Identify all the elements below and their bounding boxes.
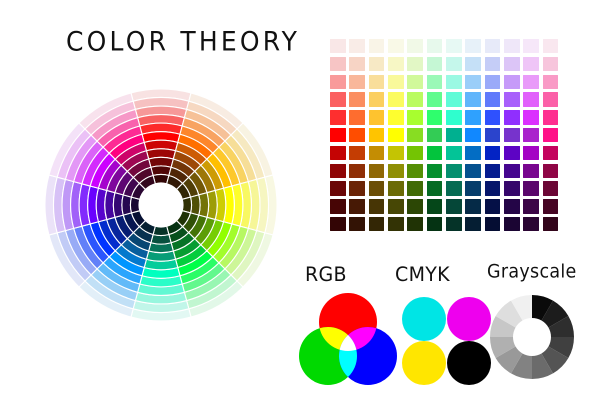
swatch-blue-4 bbox=[485, 110, 501, 124]
cmyk-label: CMYK bbox=[395, 263, 450, 286]
swatch-grid bbox=[330, 39, 562, 235]
page-title: COLOR THEORY bbox=[66, 26, 300, 57]
swatch-teal-9 bbox=[446, 199, 462, 213]
swatch-yellow-10 bbox=[388, 217, 404, 231]
swatch-chartreuse-9 bbox=[407, 199, 423, 213]
swatch-chartreuse-6 bbox=[407, 146, 423, 160]
swatch-teal-6 bbox=[446, 146, 462, 160]
swatch-teal-2 bbox=[446, 75, 462, 89]
swatch-magenta-5 bbox=[543, 128, 559, 142]
swatch-amber-9 bbox=[369, 199, 385, 213]
swatch-amber-5 bbox=[369, 128, 385, 142]
swatch-amber-10 bbox=[369, 217, 385, 231]
swatch-yellow-0 bbox=[388, 39, 404, 53]
swatch-azure-1 bbox=[465, 57, 481, 71]
swatch-azure-7 bbox=[465, 164, 481, 178]
swatch-azure-5 bbox=[465, 128, 481, 142]
swatch-violet-1 bbox=[504, 57, 520, 71]
swatch-teal-4 bbox=[446, 110, 462, 124]
cmyk-circles-svg bbox=[399, 292, 491, 388]
swatch-orange-0 bbox=[349, 39, 365, 53]
swatch-orange-3 bbox=[349, 92, 365, 106]
swatch-magenta-9 bbox=[543, 199, 559, 213]
swatch-green-10 bbox=[427, 217, 443, 231]
swatch-purple-8 bbox=[523, 181, 539, 195]
swatch-yellow-9 bbox=[388, 199, 404, 213]
swatch-orange-9 bbox=[349, 199, 365, 213]
swatch-green-8 bbox=[427, 181, 443, 195]
swatch-red-0 bbox=[330, 39, 346, 53]
swatch-red-6 bbox=[330, 146, 346, 160]
swatch-magenta-0 bbox=[543, 39, 559, 53]
swatch-magenta-1 bbox=[543, 57, 559, 71]
swatch-orange-6 bbox=[349, 146, 365, 160]
swatch-blue-9 bbox=[485, 199, 501, 213]
swatch-purple-3 bbox=[523, 92, 539, 106]
cmyk-circles-diagram bbox=[399, 292, 491, 388]
swatch-purple-2 bbox=[523, 75, 539, 89]
swatch-violet-9 bbox=[504, 199, 520, 213]
swatch-amber-7 bbox=[369, 164, 385, 178]
swatch-magenta-8 bbox=[543, 181, 559, 195]
swatch-yellow-3 bbox=[388, 92, 404, 106]
swatch-chartreuse-8 bbox=[407, 181, 423, 195]
swatch-magenta-10 bbox=[543, 217, 559, 231]
cmyk-circle-yellow bbox=[402, 341, 446, 385]
swatch-azure-0 bbox=[465, 39, 481, 53]
wheel-center-hole bbox=[139, 183, 183, 227]
swatch-violet-4 bbox=[504, 110, 520, 124]
swatch-purple-1 bbox=[523, 57, 539, 71]
swatch-chartreuse-4 bbox=[407, 110, 423, 124]
swatch-green-1 bbox=[427, 57, 443, 71]
swatch-purple-4 bbox=[523, 110, 539, 124]
swatch-red-9 bbox=[330, 199, 346, 213]
swatch-amber-2 bbox=[369, 75, 385, 89]
swatch-red-10 bbox=[330, 217, 346, 231]
swatch-blue-5 bbox=[485, 128, 501, 142]
swatch-amber-6 bbox=[369, 146, 385, 160]
swatch-green-9 bbox=[427, 199, 443, 213]
swatch-yellow-6 bbox=[388, 146, 404, 160]
cmyk-circle-key bbox=[447, 341, 491, 385]
swatch-chartreuse-0 bbox=[407, 39, 423, 53]
grayscale-wheel bbox=[487, 292, 579, 384]
swatch-green-6 bbox=[427, 146, 443, 160]
swatch-teal-5 bbox=[446, 128, 462, 142]
swatch-purple-0 bbox=[523, 39, 539, 53]
rgb-venn-diagram bbox=[296, 292, 400, 388]
swatch-red-3 bbox=[330, 92, 346, 106]
swatch-violet-7 bbox=[504, 164, 520, 178]
swatch-magenta-6 bbox=[543, 146, 559, 160]
swatch-chartreuse-1 bbox=[407, 57, 423, 71]
swatch-chartreuse-2 bbox=[407, 75, 423, 89]
swatch-teal-10 bbox=[446, 217, 462, 231]
swatch-violet-0 bbox=[504, 39, 520, 53]
swatch-violet-5 bbox=[504, 128, 520, 142]
swatch-violet-10 bbox=[504, 217, 520, 231]
rgb-venn-svg bbox=[296, 292, 400, 388]
swatch-violet-8 bbox=[504, 181, 520, 195]
swatch-orange-8 bbox=[349, 181, 365, 195]
grayscale-label: Grayscale bbox=[487, 262, 577, 283]
swatch-red-2 bbox=[330, 75, 346, 89]
swatch-teal-7 bbox=[446, 164, 462, 178]
swatch-blue-2 bbox=[485, 75, 501, 89]
swatch-red-7 bbox=[330, 164, 346, 178]
swatch-green-0 bbox=[427, 39, 443, 53]
swatch-teal-0 bbox=[446, 39, 462, 53]
swatch-azure-4 bbox=[465, 110, 481, 124]
swatch-azure-8 bbox=[465, 181, 481, 195]
swatch-azure-10 bbox=[465, 217, 481, 231]
swatch-orange-10 bbox=[349, 217, 365, 231]
swatch-purple-5 bbox=[523, 128, 539, 142]
swatch-orange-7 bbox=[349, 164, 365, 178]
swatch-violet-3 bbox=[504, 92, 520, 106]
swatch-green-3 bbox=[427, 92, 443, 106]
swatch-azure-2 bbox=[465, 75, 481, 89]
swatch-green-2 bbox=[427, 75, 443, 89]
cmyk-circle-magenta bbox=[447, 297, 491, 341]
swatch-blue-6 bbox=[485, 146, 501, 160]
swatch-yellow-4 bbox=[388, 110, 404, 124]
swatch-amber-0 bbox=[369, 39, 385, 53]
swatch-chartreuse-10 bbox=[407, 217, 423, 231]
swatch-magenta-3 bbox=[543, 92, 559, 106]
rgb-label: RGB bbox=[305, 263, 347, 286]
swatch-violet-6 bbox=[504, 146, 520, 160]
swatch-teal-8 bbox=[446, 181, 462, 195]
swatch-chartreuse-3 bbox=[407, 92, 423, 106]
swatch-blue-1 bbox=[485, 57, 501, 71]
swatch-azure-3 bbox=[465, 92, 481, 106]
swatch-amber-4 bbox=[369, 110, 385, 124]
swatch-blue-7 bbox=[485, 164, 501, 178]
swatch-red-4 bbox=[330, 110, 346, 124]
swatch-teal-3 bbox=[446, 92, 462, 106]
swatch-purple-9 bbox=[523, 199, 539, 213]
cmyk-circle-cyan bbox=[402, 297, 446, 341]
swatch-teal-1 bbox=[446, 57, 462, 71]
swatch-red-1 bbox=[330, 57, 346, 71]
swatch-yellow-5 bbox=[388, 128, 404, 142]
swatch-orange-1 bbox=[349, 57, 365, 71]
swatch-yellow-1 bbox=[388, 57, 404, 71]
swatch-magenta-2 bbox=[543, 75, 559, 89]
swatch-magenta-4 bbox=[543, 110, 559, 124]
swatch-red-8 bbox=[330, 181, 346, 195]
swatch-green-4 bbox=[427, 110, 443, 124]
swatch-blue-3 bbox=[485, 92, 501, 106]
swatch-yellow-7 bbox=[388, 164, 404, 178]
swatch-chartreuse-5 bbox=[407, 128, 423, 142]
swatch-orange-2 bbox=[349, 75, 365, 89]
swatch-blue-0 bbox=[485, 39, 501, 53]
swatch-red-5 bbox=[330, 128, 346, 142]
swatch-purple-10 bbox=[523, 217, 539, 231]
swatch-amber-1 bbox=[369, 57, 385, 71]
swatch-yellow-8 bbox=[388, 181, 404, 195]
grayscale-wheel-svg bbox=[487, 292, 579, 384]
swatch-green-7 bbox=[427, 164, 443, 178]
swatch-orange-5 bbox=[349, 128, 365, 142]
swatch-green-5 bbox=[427, 128, 443, 142]
color-wheel-svg bbox=[44, 83, 278, 329]
swatch-azure-9 bbox=[465, 199, 481, 213]
swatch-amber-3 bbox=[369, 92, 385, 106]
swatch-yellow-2 bbox=[388, 75, 404, 89]
swatch-orange-4 bbox=[349, 110, 365, 124]
swatch-amber-8 bbox=[369, 181, 385, 195]
color-wheel bbox=[44, 83, 278, 329]
swatch-blue-10 bbox=[485, 217, 501, 231]
swatch-azure-6 bbox=[465, 146, 481, 160]
swatch-magenta-7 bbox=[543, 164, 559, 178]
swatch-chartreuse-7 bbox=[407, 164, 423, 178]
swatch-purple-7 bbox=[523, 164, 539, 178]
swatch-blue-8 bbox=[485, 181, 501, 195]
swatch-violet-2 bbox=[504, 75, 520, 89]
swatch-purple-6 bbox=[523, 146, 539, 160]
